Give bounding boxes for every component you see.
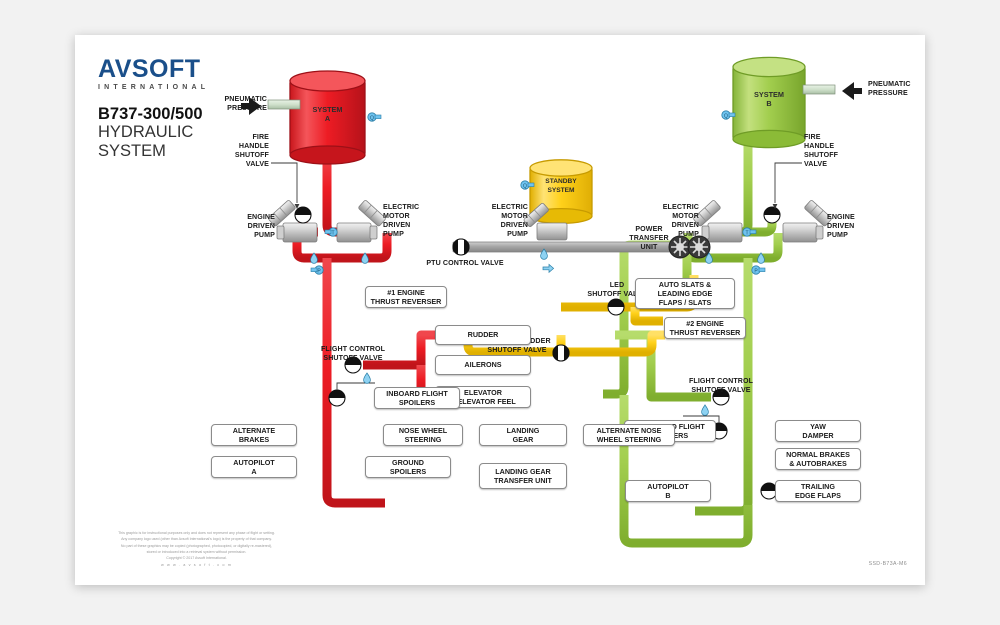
svg-text:Q: Q [724, 114, 728, 120]
engine-driven-pump-right-label: ENGINE DRIVEN PUMP [827, 213, 905, 240]
emp-r-l1: ELECTRIC [663, 203, 699, 211]
pneu-right-l2: PRESSURE [868, 89, 908, 97]
system-a-label-line2: A [325, 114, 330, 123]
apb-l1: AUTOPILOT [647, 482, 688, 491]
box-ailerons[interactable]: AILERONS [435, 355, 531, 375]
srsv-l2: SHUTOFF VALVE [487, 346, 546, 354]
etr1-l1: #1 ENGINE [387, 288, 425, 297]
apa-l1: AUTOPILOT [233, 458, 274, 467]
gs-l2: SPOILERS [390, 467, 426, 476]
emp-r-l2: MOTOR [672, 212, 699, 220]
footer-disclaimer: This graphic is for instructional purpos… [89, 530, 304, 569]
emp-s-l4: PUMP [507, 230, 528, 238]
pressure-sensor-b: P [752, 266, 765, 275]
fcsv-a-l2: SHUTOFF VALVE [323, 354, 382, 362]
box-nose-wheel-steering[interactable]: NOSE WHEEL STEERING [383, 424, 463, 446]
fire-handle-right-label: FIRE HANDLE SHUTOFF VALVE [804, 133, 886, 168]
flight-control-shutoff-a-label: FLIGHT CONTROL SHUTOFF VALVE [303, 345, 403, 363]
box-alternate-brakes[interactable]: ALTERNATE BRAKES [211, 424, 297, 446]
fire-handle-left-label: FIRE HANDLE SHUTOFF VALVE [187, 133, 269, 168]
filter-icon-fcsv-b [702, 405, 709, 415]
ele-l1: ELEVATOR [464, 388, 502, 397]
box-landing-gear[interactable]: LANDING GEAR [479, 424, 567, 446]
fh-left-l1: FIRE [252, 133, 269, 141]
box-eng1-thrust-reverser[interactable]: #1 ENGINE THRUST REVERSER [365, 286, 447, 308]
box-landing-gear-transfer-unit[interactable]: LANDING GEAR TRANSFER UNIT [479, 463, 567, 489]
box-autopilot-b[interactable]: AUTOPILOT B [625, 480, 711, 502]
emp-l-l4: PUMP [383, 230, 404, 238]
box-autopilot-a[interactable]: AUTOPILOT A [211, 456, 297, 478]
emp-l-l1: ELECTRIC [383, 203, 419, 211]
box-rudder[interactable]: RUDDER [435, 325, 531, 345]
apa-l2: A [251, 467, 256, 476]
ptu-l2: TRANSFER [629, 234, 668, 242]
standby-label-line1: STANDBY [545, 178, 576, 185]
standby-reservoir-label: STANDBY SYSTEM [530, 178, 592, 195]
electric-motor-pump-left [337, 200, 386, 242]
sensor-icons: Q Q Q T T P P [311, 111, 765, 416]
footer-line-3: No part of these graphics may be copied … [89, 543, 304, 549]
fcsv-b-l1: FLIGHT CONTROL [689, 377, 753, 385]
footer-copyright: Copyright © 2017 Avsoft International. [89, 555, 304, 561]
power-transfer-unit-label: POWER TRANSFER UNIT [611, 225, 687, 252]
pneumatic-pressure-left-label: PNEUMATIC PRESSURE [175, 95, 267, 113]
ele-l2: & ELEVATOR FEEL [450, 397, 516, 406]
box-trailing-edge-flaps[interactable]: TRAILING EDGE FLAPS [775, 480, 861, 502]
pneumatic-arrow-right-icon [842, 82, 862, 100]
edp-r-l2: DRIVEN [827, 222, 854, 230]
document-id: SSD-B73A-M6 [869, 561, 907, 567]
nb-l2: & AUTOBRAKES [789, 459, 847, 468]
fh-left-l4: VALVE [246, 160, 269, 168]
system-b-return-loop [624, 395, 748, 543]
etr2-l1: #2 ENGINE [686, 319, 724, 328]
edp-r-l3: PUMP [827, 231, 848, 239]
edp-l-l3: PUMP [254, 231, 275, 239]
nws-l1: NOSE WHEEL [399, 426, 447, 435]
ptu-l3: UNIT [641, 243, 658, 251]
fcsv-a-l1: FLIGHT CONTROL [321, 345, 385, 353]
flow-sensor-standby [543, 264, 554, 272]
fh-right-l3: SHUTOFF [804, 151, 838, 159]
as-l2: LEADING EDGE [658, 289, 713, 298]
fh-left-l3: SHUTOFF [235, 151, 269, 159]
led-l1: LED [610, 281, 625, 289]
edp-r-l1: ENGINE [827, 213, 855, 221]
fire-handle-valve-a [295, 207, 311, 223]
system-b-label-line2: B [766, 99, 771, 108]
emp-s-l1: ELECTRIC [492, 203, 528, 211]
footer-website: w w w . a v s o f t . c o m [89, 562, 304, 569]
system-a-label-line1: SYSTEM [312, 105, 342, 114]
engine-driven-pump-left [268, 200, 317, 242]
lg-l1: LANDING [507, 426, 540, 435]
svg-text:T: T [745, 231, 748, 237]
tef-l1: TRAILING [801, 482, 835, 491]
ptu-l1: POWER [635, 225, 662, 233]
diagram-page: Q Q Q T T P P AVSOFT INTERNATIONAL B737-… [75, 35, 925, 585]
anws-l2: WHEEL STEERING [597, 435, 662, 444]
electric-motor-pump-left-label: ELECTRIC MOTOR DRIVEN PUMP [383, 203, 453, 238]
lgtu-l2: TRANSFER UNIT [494, 476, 552, 485]
box-auto-slats[interactable]: AUTO SLATS & LEADING EDGE FLAPS / SLATS [635, 278, 735, 309]
standby-label-line2: SYSTEM [547, 187, 574, 194]
system-a-reservoir-label: SYSTEM A [290, 105, 365, 124]
tef-l2: EDGE FLAPS [795, 491, 841, 500]
anws-l1: ALTERNATE NOSE [597, 426, 662, 435]
pneu-left-l1: PNEUMATIC [224, 95, 267, 103]
nb-l1: NORMAL BRAKES [786, 450, 850, 459]
svg-text:Q: Q [370, 116, 374, 122]
led-shutoff-valve [608, 299, 624, 315]
footer-line-2: Any company logo used (other than Avsoft… [89, 536, 304, 542]
ptu-control-valve [453, 239, 469, 255]
fh-right-l2: HANDLE [804, 142, 834, 150]
pneumatic-pressure-right-label: PNEUMATIC PRESSURE [868, 80, 960, 98]
box-alternate-nose-wheel-steering[interactable]: ALTERNATE NOSE WHEEL STEERING [583, 424, 675, 446]
flight-control-shutoff-b-label: FLIGHT CONTROL SHUTOFF VALVE [671, 377, 771, 395]
ab-l2: BRAKES [239, 435, 269, 444]
inboard-spoilers-valve [329, 390, 345, 406]
yd-l2: DAMPER [802, 431, 833, 440]
apb-l2: B [665, 491, 670, 500]
box-ground-spoilers[interactable]: GROUND SPOILERS [365, 456, 451, 478]
ifs-l2: SPOILERS [399, 398, 435, 407]
lgtu-l1: LANDING GEAR [495, 467, 551, 476]
ifs-l1: INBOARD FLIGHT [386, 389, 448, 398]
nws-l2: STEERING [405, 435, 442, 444]
box-yaw-damper[interactable]: YAW DAMPER [775, 420, 861, 442]
filter-icon-fcsv-a [364, 373, 371, 383]
ptu-control-valve-label: PTU CONTROL VALVE [405, 259, 525, 268]
logo-wordmark: AVSOFT [98, 57, 209, 82]
electric-motor-pump-standby-label: ELECTRIC MOTOR DRIVEN PUMP [460, 203, 528, 238]
logo-subtitle: INTERNATIONAL [98, 84, 209, 91]
as-l1: AUTO SLATS & [659, 280, 711, 289]
fh-right-l1: FIRE [804, 133, 821, 141]
engine-driven-pump-left-label: ENGINE DRIVEN PUMP [197, 213, 275, 240]
fh-right-l4: VALVE [804, 160, 827, 168]
box-normal-brakes[interactable]: NORMAL BRAKES & AUTOBRAKES [775, 448, 861, 470]
gs-l1: GROUND [392, 458, 424, 467]
pneu-right-l1: PNEUMATIC [868, 80, 911, 88]
ab-l1: ALTERNATE [233, 426, 275, 435]
emp-s-l3: DRIVEN [501, 221, 528, 229]
etr2-l2: THRUST REVERSER [670, 328, 741, 337]
box-inboard-flight-spoilers[interactable]: INBOARD FLIGHT SPOILERS [374, 387, 460, 409]
emp-l-l3: DRIVEN [383, 221, 410, 229]
emp-l-l2: MOTOR [383, 212, 410, 220]
pneumatic-pipe-right [803, 85, 835, 94]
quantity-sensor-a: Q [368, 113, 381, 122]
pressure-sensor-a: P [311, 266, 323, 275]
fcsv-b-l2: SHUTOFF VALVE [691, 386, 750, 394]
pneu-left-l2: PRESSURE [227, 104, 267, 112]
engine-driven-pump-right [783, 200, 832, 242]
fire-handle-valve-b [764, 207, 780, 223]
lg-l2: GEAR [513, 435, 534, 444]
box-eng2-thrust-reverser[interactable]: #2 ENGINE THRUST REVERSER [664, 317, 746, 339]
system-b-reservoir-label: SYSTEM B [733, 90, 805, 109]
as-l3: FLAPS / SLATS [659, 298, 712, 307]
yd-l1: YAW [810, 422, 826, 431]
etr1-l2: THRUST REVERSER [371, 297, 442, 306]
system-b-label-line1: SYSTEM [754, 90, 784, 99]
edp-l-l1: ENGINE [247, 213, 275, 221]
avsoft-logo: AVSOFT INTERNATIONAL [98, 57, 209, 91]
svg-text:T: T [331, 231, 334, 237]
edp-l-l2: DRIVEN [248, 222, 275, 230]
fh-left-l2: HANDLE [239, 142, 269, 150]
emp-s-l2: MOTOR [501, 212, 528, 220]
svg-text:Q: Q [523, 184, 527, 190]
